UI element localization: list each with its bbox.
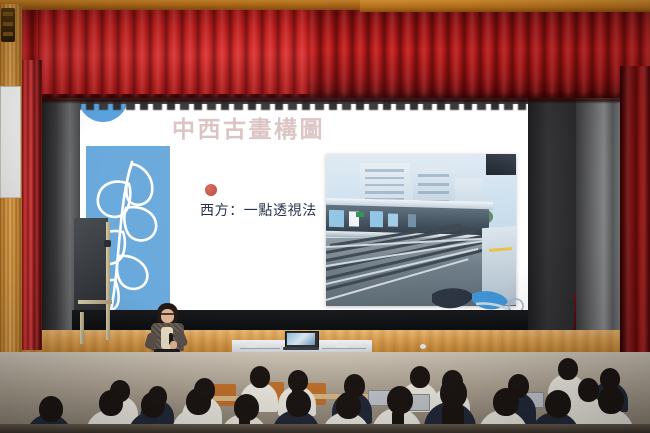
wall-notice-board: [0, 86, 21, 198]
stage-curtain-top-lit: [38, 6, 308, 94]
stage-curtain-gray-right-1: [528, 92, 578, 352]
slide-bullet-text: 西方：一點透視法: [200, 200, 317, 220]
curtain-pleats-lit: [38, 6, 308, 94]
bullet-dot-icon: [205, 184, 217, 196]
audience: [0, 352, 650, 433]
stage-curtain-gray-right-2: [576, 92, 616, 350]
easel-board: [74, 218, 108, 310]
easel-leg: [80, 312, 84, 344]
screen-bottom-band: [72, 310, 528, 330]
floor-foreground: [0, 424, 650, 433]
auditorium-photo: 中西古畫構圖 西方：一點透視法: [0, 0, 650, 433]
easel-tray: [78, 300, 112, 304]
wall-fixture-icon: [1, 8, 15, 42]
stage-curtain-side-right: [620, 66, 650, 356]
curtain-pleats-right: [620, 66, 650, 356]
photo-roof-overhang: [486, 154, 516, 175]
presentation-slide: 中西古畫構圖 西方：一點透視法: [72, 88, 528, 318]
projection-screen: 中西古畫構圖 西方：一點透視法: [72, 88, 528, 318]
stage-laptop: [283, 331, 319, 351]
slide-title: 中西古畫構圖: [172, 110, 325, 144]
photo-station-sign: [356, 212, 364, 217]
easel-knob: [104, 240, 111, 247]
ceiling-beam-right: [360, 0, 650, 12]
